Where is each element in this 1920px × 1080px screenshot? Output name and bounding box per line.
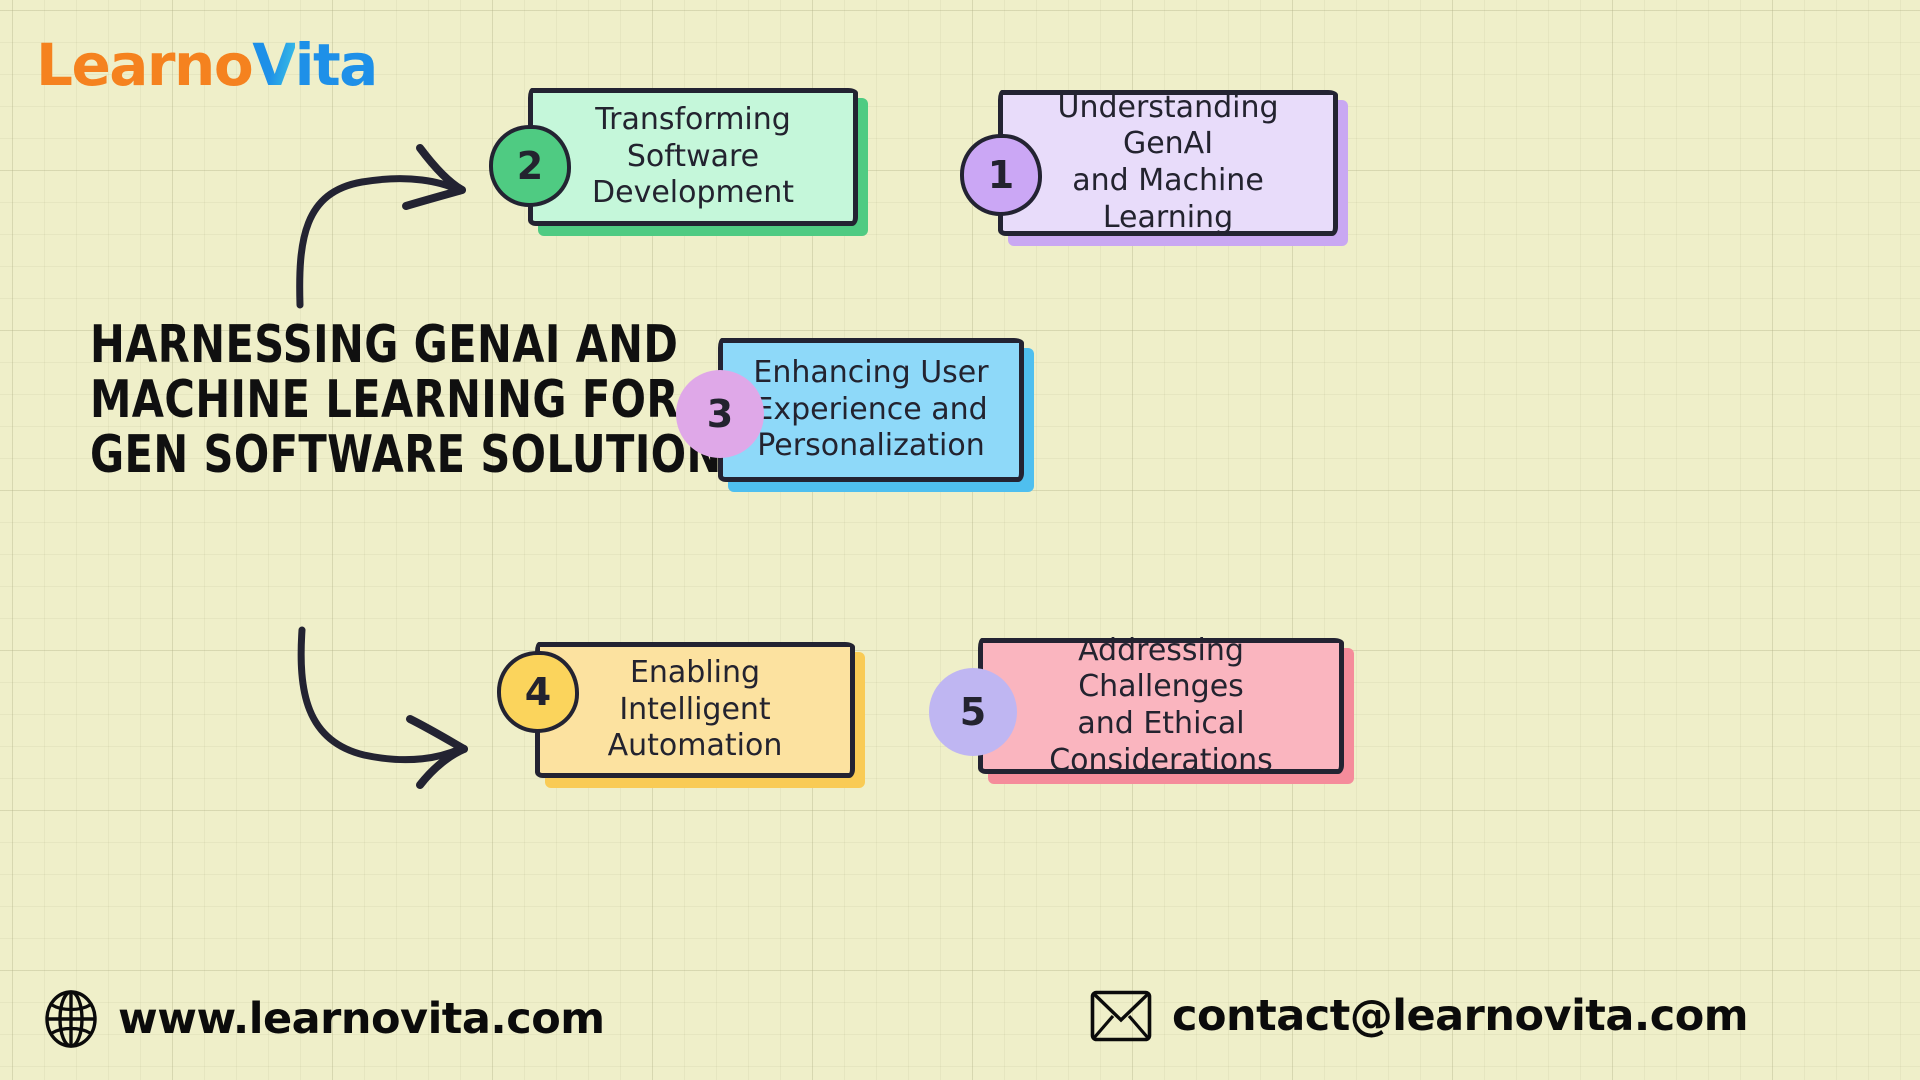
card-2-text: Transforming Software Development	[547, 102, 839, 212]
card-2-line-3: Development	[592, 175, 794, 210]
card-3-number-badge[interactable]: 3	[679, 373, 761, 455]
card-1-line-3: Learning	[1103, 200, 1233, 235]
card-4[interactable]: Enabling Intelligent Automation	[535, 642, 855, 778]
card-2-number-badge[interactable]: 2	[489, 125, 571, 207]
page-title-line-1: Harnessing GenAI and	[90, 318, 618, 373]
envelope-icon	[1090, 990, 1152, 1042]
card-1-line-1: Understanding GenAI	[1057, 90, 1278, 162]
footer-website-text: www.learnovita.com	[118, 994, 605, 1044]
card-2-number: 2	[517, 144, 543, 188]
card-1[interactable]: Understanding GenAI and Machine Learning	[998, 90, 1338, 236]
page-title-line-2: Machine Learning for Next-	[90, 373, 618, 428]
learnovita-logo[interactable]: LearnoVita	[36, 36, 377, 94]
footer-website[interactable]: www.learnovita.com	[44, 990, 605, 1048]
curved-arrow-bottom-icon	[272, 625, 492, 800]
card-5[interactable]: Addressing Challenges and Ethical Consid…	[978, 638, 1344, 774]
card-3-line-2: Experience and	[754, 392, 987, 427]
card-3-number: 3	[707, 392, 733, 436]
card-5-number-badge[interactable]: 5	[932, 671, 1014, 753]
page-title-line-3: Gen Software Solutions	[90, 428, 618, 483]
card-3-text: Enhancing User Experience and Personaliz…	[737, 355, 1005, 465]
footer-email-text: contact@learnovita.com	[1172, 991, 1748, 1041]
card-3-line-1: Enhancing User	[753, 355, 988, 390]
card-2-line-2: Software	[627, 139, 759, 174]
logo-text-learno: Learno	[36, 31, 252, 99]
card-5-line-2: and Ethical	[1077, 706, 1244, 741]
card-3-line-3: Personalization	[757, 428, 984, 463]
card-4-text: Enabling Intelligent Automation	[554, 655, 836, 765]
card-5-line-3: Considerations	[1049, 743, 1273, 778]
card-4-number: 4	[525, 670, 551, 714]
page-title: Harnessing GenAI and Machine Learning fo…	[90, 318, 618, 483]
card-1-line-2: and Machine	[1072, 163, 1264, 198]
card-4-number-badge[interactable]: 4	[497, 651, 579, 733]
globe-icon	[44, 990, 98, 1048]
card-1-number-badge[interactable]: 1	[960, 134, 1042, 216]
card-2-line-1: Transforming	[595, 102, 791, 137]
logo-text-ita: ita	[295, 31, 377, 99]
card-4-line-1: Enabling Intelligent	[619, 655, 770, 727]
card-5-line-1: Addressing Challenges	[1078, 633, 1244, 705]
card-2[interactable]: Transforming Software Development	[528, 88, 858, 226]
card-1-number: 1	[988, 153, 1014, 197]
footer-email[interactable]: contact@learnovita.com	[1090, 990, 1748, 1042]
curved-arrow-top-icon	[270, 120, 490, 310]
card-5-number: 5	[960, 690, 986, 734]
logo-text-v: V	[252, 31, 294, 99]
infographic-poster: LearnoVita Harnessing GenAI and Machine …	[0, 0, 1920, 1080]
card-4-line-2: Automation	[608, 728, 783, 763]
card-1-text: Understanding GenAI and Machine Learning	[1017, 90, 1319, 236]
card-5-text: Addressing Challenges and Ethical Consid…	[997, 633, 1325, 779]
